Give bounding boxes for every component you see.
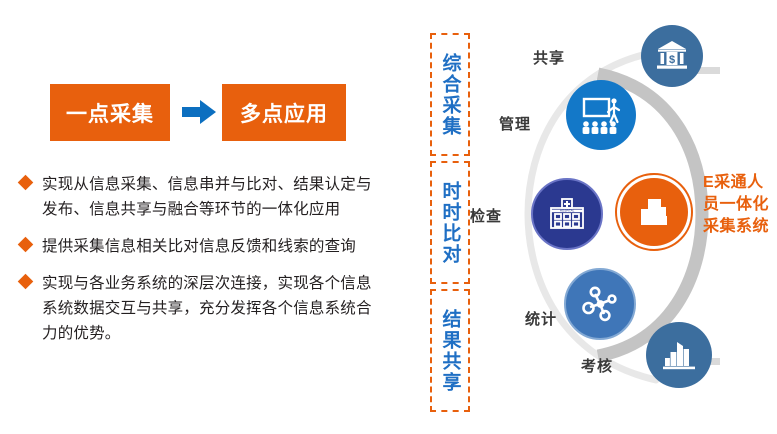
center-caption-line-3: 采集系统 bbox=[703, 216, 777, 238]
tag-one-point-collection: 一点采集 bbox=[50, 84, 170, 141]
classroom-icon bbox=[566, 80, 636, 150]
list-item: 实现与各业务系统的深层次连接，实现各个信息系统数据交互与共享，充分发挥各个信息系… bbox=[8, 271, 403, 346]
list-item: 实现从信息采集、信息串并与比对、结果认定与发布、信息共享与融合等环节的一体化应用 bbox=[8, 172, 403, 222]
network-nodes-icon bbox=[564, 268, 636, 340]
node-label-management: 管理 bbox=[499, 113, 531, 134]
node-label-assessment: 考核 bbox=[581, 355, 613, 376]
dashed-label-comprehensive-collection: 综合采集 bbox=[430, 33, 470, 156]
bullet-text: 实现与各业务系统的深层次连接，实现各个信息系统数据交互与共享，充分发挥各个信息系… bbox=[42, 271, 382, 346]
center-caption-line-1: E采通人 bbox=[703, 172, 777, 194]
stepped-building-icon bbox=[620, 178, 688, 246]
diamond-bullet-icon bbox=[18, 175, 34, 191]
list-item: 提供采集信息相关比对信息反馈和线索的查询 bbox=[8, 234, 403, 259]
bullet-text: 实现从信息采集、信息串并与比对、结果认定与发布、信息共享与融合等环节的一体化应用 bbox=[42, 172, 382, 222]
bank-icon: $ bbox=[641, 25, 703, 87]
bullet-text: 提供采集信息相关比对信息反馈和线索的查询 bbox=[42, 234, 382, 259]
dashed-label-realtime-comparison: 时时比对 bbox=[430, 161, 470, 284]
right-arrow-icon bbox=[182, 98, 216, 126]
center-caption: E采通人 员一体化 采集系统 bbox=[703, 172, 777, 238]
hospital-icon: HOSPITAL bbox=[531, 178, 603, 250]
slide-canvas: 一点采集 多点应用 实现从信息采集、信息串并与比对、结果认定与发布、信息共享与融… bbox=[0, 0, 777, 434]
node-label-inspection: 检查 bbox=[470, 205, 502, 226]
tag-multi-point-application: 多点应用 bbox=[222, 84, 346, 141]
left-panel: 一点采集 多点应用 实现从信息采集、信息串并与比对、结果认定与发布、信息共享与融… bbox=[0, 0, 420, 434]
diamond-bullet-icon bbox=[18, 237, 34, 253]
svg-text:$: $ bbox=[669, 54, 675, 66]
node-label-share: 共享 bbox=[533, 47, 565, 68]
node-label-statistics: 统计 bbox=[525, 308, 557, 329]
center-node-system[interactable] bbox=[615, 173, 693, 251]
svg-text:HOSPITAL: HOSPITAL bbox=[560, 209, 575, 213]
center-caption-line-2: 员一体化 bbox=[703, 194, 777, 216]
dashed-label-result-sharing: 结果共享 bbox=[430, 289, 470, 412]
diamond-bullet-icon bbox=[18, 274, 34, 290]
city-buildings-icon bbox=[646, 322, 712, 388]
bullet-list: 实现从信息采集、信息串并与比对、结果认定与发布、信息共享与融合等环节的一体化应用… bbox=[8, 172, 403, 358]
right-diagram-panel: 综合采集 时时比对 结果共享 共享 $ 管理 bbox=[420, 0, 777, 434]
